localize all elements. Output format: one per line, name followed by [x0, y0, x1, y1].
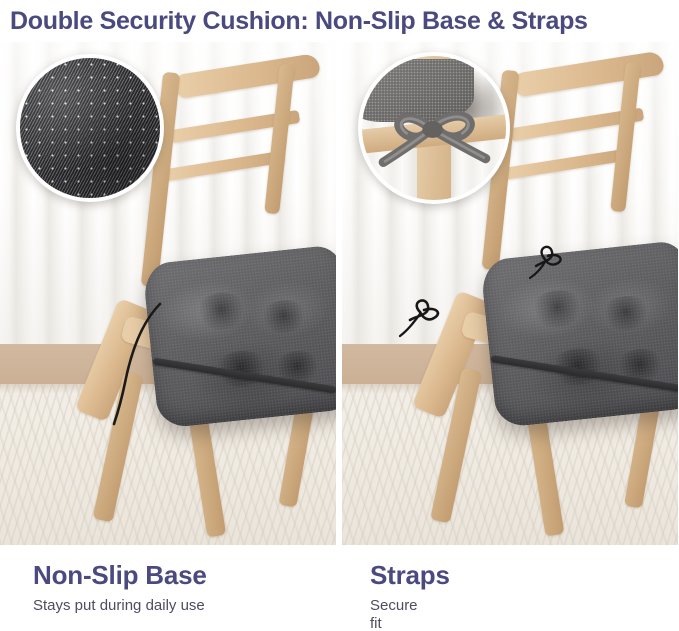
strap-bow-icon [374, 93, 495, 168]
cushion-tie-bow-upper [524, 240, 570, 280]
photo-panel-non-slip-base [0, 42, 336, 545]
product-infographic: Double Security Cushion: Non-Slip Base &… [0, 0, 679, 631]
photo-panel-straps [342, 42, 678, 545]
cushion-tie-bow-lower [396, 292, 448, 338]
cushion-tie-strap [108, 300, 168, 430]
seat-cushion [480, 240, 678, 429]
page-title-text: Double Security Cushion: Non-Slip Base &… [10, 7, 588, 36]
inset-non-slip-base-closeup [16, 54, 164, 202]
inset-strap-tie-closeup [358, 52, 510, 204]
caption-row: Non-Slip Base Stays put during daily use… [0, 545, 679, 631]
caption-straps: Straps Secure fit for most chairs [0, 545, 370, 631]
page-title: Double Security Cushion: Non-Slip Base &… [0, 0, 679, 42]
photo-strip [0, 42, 679, 545]
seat-cushion [142, 244, 336, 429]
